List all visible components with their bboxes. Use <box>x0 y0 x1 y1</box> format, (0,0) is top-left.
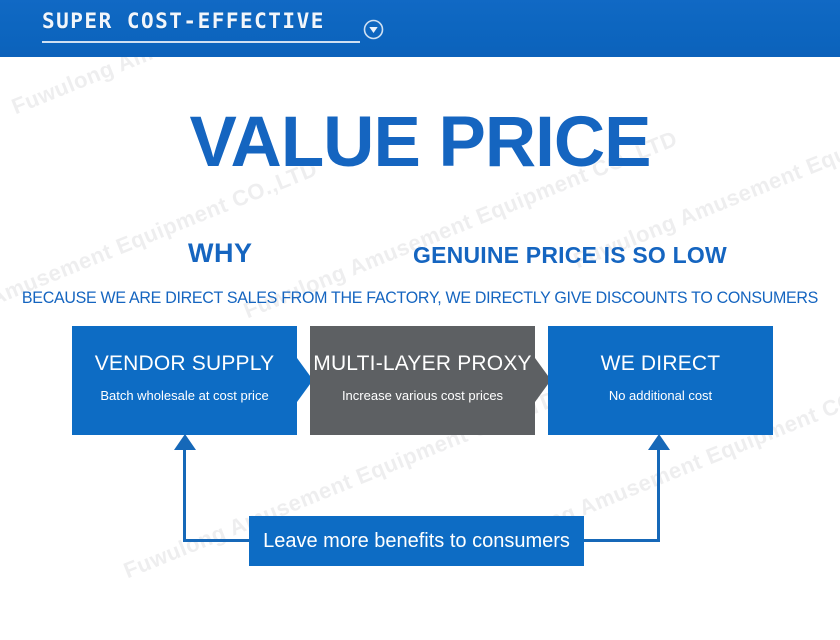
flow-step-title: VENDOR SUPPLY <box>72 352 297 376</box>
flow-step-we-direct: WE DIRECT No additional cost <box>548 326 773 435</box>
flow-step-multi-layer-proxy: MULTI-LAYER PROXY Increase various cost … <box>310 326 535 435</box>
flow-step-title: MULTI-LAYER PROXY <box>310 352 535 376</box>
banner-underline <box>42 41 360 43</box>
question-heading: GENUINE PRICE IS SO LOW <box>413 242 727 269</box>
chevron-down-circle-icon[interactable] <box>363 19 384 40</box>
supply-chain-flow: VENDOR SUPPLY Batch wholesale at cost pr… <box>0 326 840 438</box>
connector-left-vertical <box>183 448 186 542</box>
flow-step-subtitle: No additional cost <box>548 388 773 404</box>
connector-right-horizontal <box>580 539 660 542</box>
flow-step-vendor-supply: VENDOR SUPPLY Batch wholesale at cost pr… <box>72 326 297 435</box>
page-title: VALUE PRICE <box>0 104 840 182</box>
watermark-text: Fuwulong Amusement Equipment CO.,LTD <box>0 156 321 354</box>
banner-title: SUPER COST-EFFECTIVE <box>42 8 325 34</box>
callout-box: Leave more benefits to consumers <box>249 516 584 566</box>
why-heading: WHY <box>188 238 253 269</box>
callout-text: Leave more benefits to consumers <box>263 530 570 553</box>
flow-step-subtitle: Increase various cost prices <box>310 388 535 404</box>
flow-step-title: WE DIRECT <box>548 352 773 376</box>
connector-right-vertical <box>657 448 660 542</box>
connector-left-horizontal <box>183 539 253 542</box>
top-banner: SUPER COST-EFFECTIVE <box>0 0 840 57</box>
reason-text: BECAUSE WE ARE DIRECT SALES FROM THE FAC… <box>13 289 828 308</box>
flow-step-subtitle: Batch wholesale at cost price <box>72 388 297 404</box>
banner-title-wrap: SUPER COST-EFFECTIVE <box>42 8 325 34</box>
promo-banner-page: Fuwulong Amusement Equipment CO.,LTDFuwu… <box>0 0 840 640</box>
